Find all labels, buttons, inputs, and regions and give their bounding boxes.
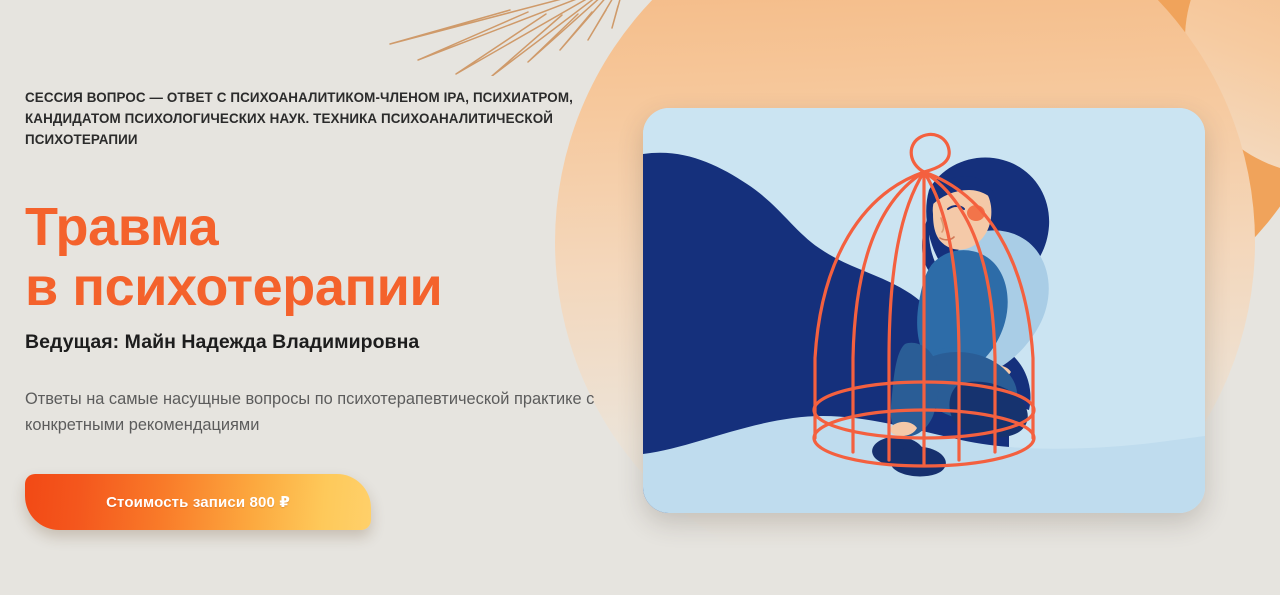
page-title-line-2: в психотерапии	[25, 257, 625, 317]
cta-container: Стоимость записи 800 ₽	[25, 439, 625, 530]
woman-in-birdcage-illustration	[643, 108, 1205, 513]
hero-kicker: СЕССИЯ ВОПРОС — ОТВЕТ С ПСИХОАНАЛИТИКОМ-…	[25, 88, 605, 151]
buy-recording-button[interactable]: Стоимость записи 800 ₽	[25, 474, 371, 530]
palm-leaf-icon	[360, 0, 640, 76]
page-title-line-1: Травма	[25, 197, 625, 257]
presenter-name: Ведущая: Майн Надежда Владимировна	[25, 318, 625, 354]
hero-banner: СЕССИЯ ВОПРОС — ОТВЕТ С ПСИХОАНАЛИТИКОМ-…	[0, 0, 1280, 595]
illustration-card	[643, 108, 1205, 513]
hero-copy: СЕССИЯ ВОПРОС — ОТВЕТ С ПСИХОАНАЛИТИКОМ-…	[25, 88, 625, 530]
hero-description: Ответы на самые насущные вопросы по псих…	[25, 354, 625, 439]
page-title: Травма в психотерапии	[25, 151, 625, 318]
